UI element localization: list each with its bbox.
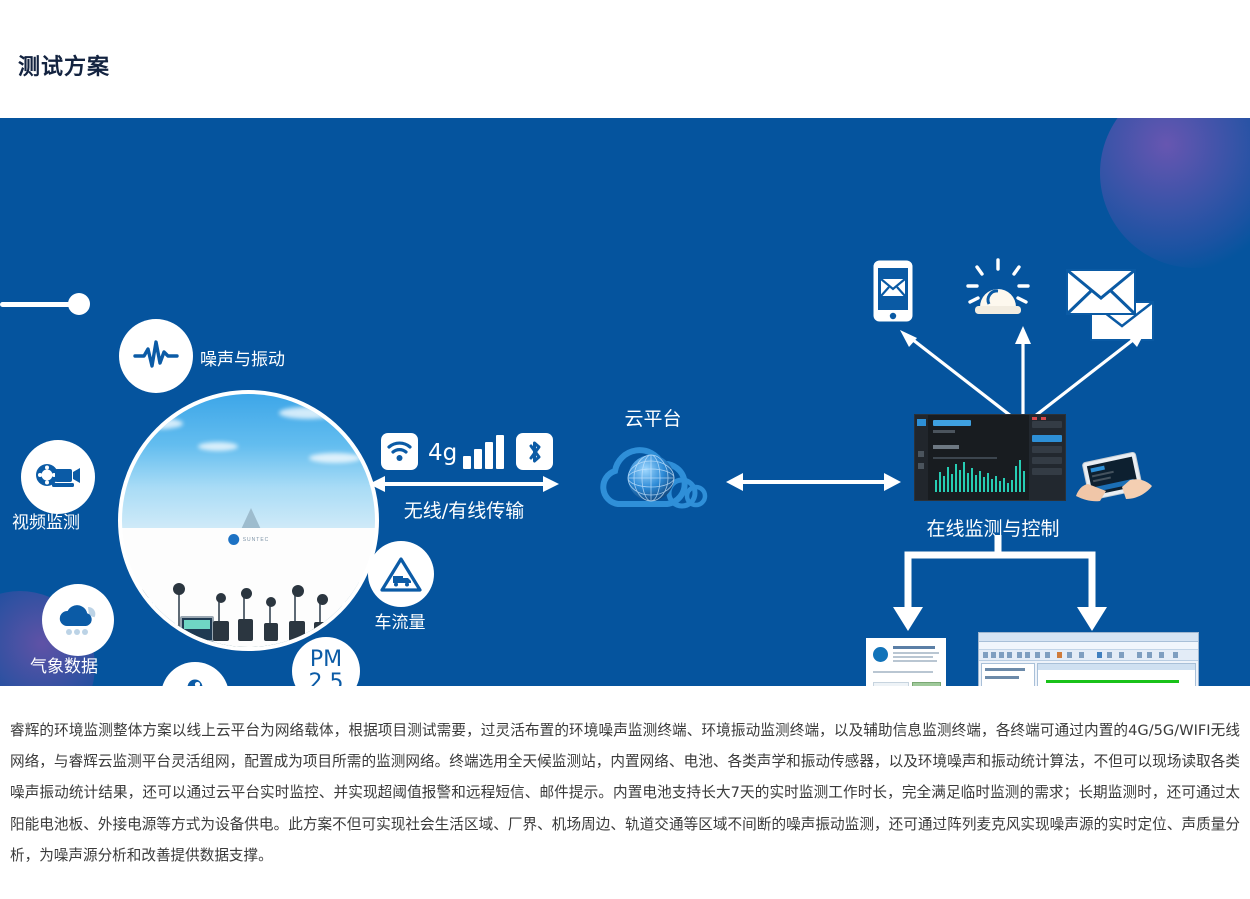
signal-bars-icon xyxy=(463,431,513,469)
monitoring-dashboard-icon xyxy=(914,414,1066,501)
brand-watermark: SUNTEC xyxy=(228,534,270,545)
lead-dot-decoration xyxy=(68,293,90,315)
branch-arrows-icon xyxy=(860,533,1200,643)
sensor-label-noise-vibration: 噪声与振动 xyxy=(200,345,285,370)
lead-line-decoration xyxy=(0,302,78,307)
sensor-badge-weather-data[interactable] xyxy=(42,584,114,656)
bluetooth-icon xyxy=(516,433,553,470)
sensor-badge-noise-vibration[interactable] xyxy=(119,319,193,393)
pm25-icon-line1: PM xyxy=(310,648,342,671)
cloud-to-monitoring-arrow-icon xyxy=(726,473,901,491)
report-document-icon xyxy=(866,638,946,686)
analysis-software-icon xyxy=(978,632,1199,686)
decorative-glow-top-right xyxy=(1100,118,1250,268)
page-title: 测试方案 xyxy=(18,49,110,81)
siren-icon xyxy=(963,258,1033,325)
network-generation-label: 4g xyxy=(428,440,457,466)
instrument-lineup-photo: SUNTEC xyxy=(122,528,375,647)
cloud-platform-label: 云平台 xyxy=(624,404,681,431)
location-pin-icon xyxy=(178,677,212,686)
cloud-rain-icon xyxy=(55,602,101,638)
sensor-label-traffic-flow: 车流量 xyxy=(375,608,426,633)
monitoring-site-photo: SUNTEC xyxy=(118,390,379,651)
sensor-badge-video-monitoring[interactable] xyxy=(21,440,95,514)
transmission-double-arrow-icon xyxy=(369,476,559,492)
solution-diagram-panel: 噪声与振动 视频监测 xyxy=(0,118,1250,686)
sensor-badge-gps[interactable] xyxy=(161,662,229,686)
waveform-icon xyxy=(133,339,179,373)
scheme-page: 测试方案 噪声与振动 xyxy=(0,0,1250,899)
pm25-icon-line2: 2.5 xyxy=(309,671,344,686)
scheme-description: 睿辉的环境监测整体方案以线上云平台为网络载体，根据项目测试需要，过灵活布置的环境… xyxy=(10,715,1240,872)
hands-tablet-icon xyxy=(1072,450,1164,506)
transmission-caption: 无线/有线传输 xyxy=(404,496,524,523)
wifi-icon xyxy=(381,433,418,470)
sensor-badge-traffic-flow[interactable] xyxy=(368,541,434,607)
cloud-globe-icon xyxy=(592,438,717,513)
traffic-warning-icon xyxy=(380,555,422,593)
sensor-label-video-monitoring: 视频监测 xyxy=(12,508,80,533)
sensor-label-weather-data: 气象数据 xyxy=(30,652,98,677)
video-camera-icon xyxy=(35,461,81,493)
alert-fan-arrows-icon xyxy=(860,318,1190,428)
